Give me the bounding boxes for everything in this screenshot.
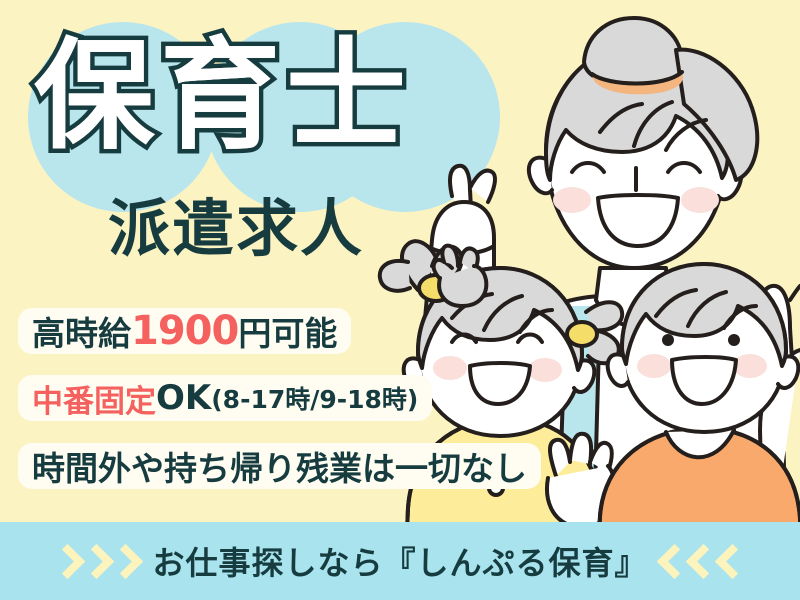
feature-pill-shift: 中番固定OK(8-17時/9-18時) <box>18 375 432 421</box>
poster-canvas: 保育士 保育士 派遣求人 高時給1900円可能 中番固定OK(8-17時/9-1… <box>0 0 800 600</box>
chevrons-left-group <box>662 549 745 574</box>
feature-text: 高時給 <box>32 307 131 355</box>
feature-shift-ok: OK <box>156 378 211 418</box>
feature-shift-hours: (8-17時/9-18時) <box>211 380 418 416</box>
page-subtitle: 派遣求人 <box>108 196 364 262</box>
feature-text: 時間外や持ち帰り残業は一切なし <box>32 442 527 490</box>
banner-text: お仕事探しなら『しんぷる保育』 <box>138 538 661 584</box>
chevron-left-icon <box>714 543 749 578</box>
feature-text: 円可能 <box>238 307 337 355</box>
feature-wage-amount: 1900 <box>131 308 238 354</box>
feature-pill-overtime: 時間外や持ち帰り残業は一切なし <box>18 443 541 489</box>
feature-pill-wage: 高時給1900円可能 <box>18 308 351 354</box>
chevrons-right-group <box>55 549 138 574</box>
page-title-fill: 保育士 <box>34 36 494 158</box>
feature-shift-highlight: 中番固定 <box>32 376 156 421</box>
bottom-banner: お仕事探しなら『しんぷる保育』 <box>0 522 800 600</box>
